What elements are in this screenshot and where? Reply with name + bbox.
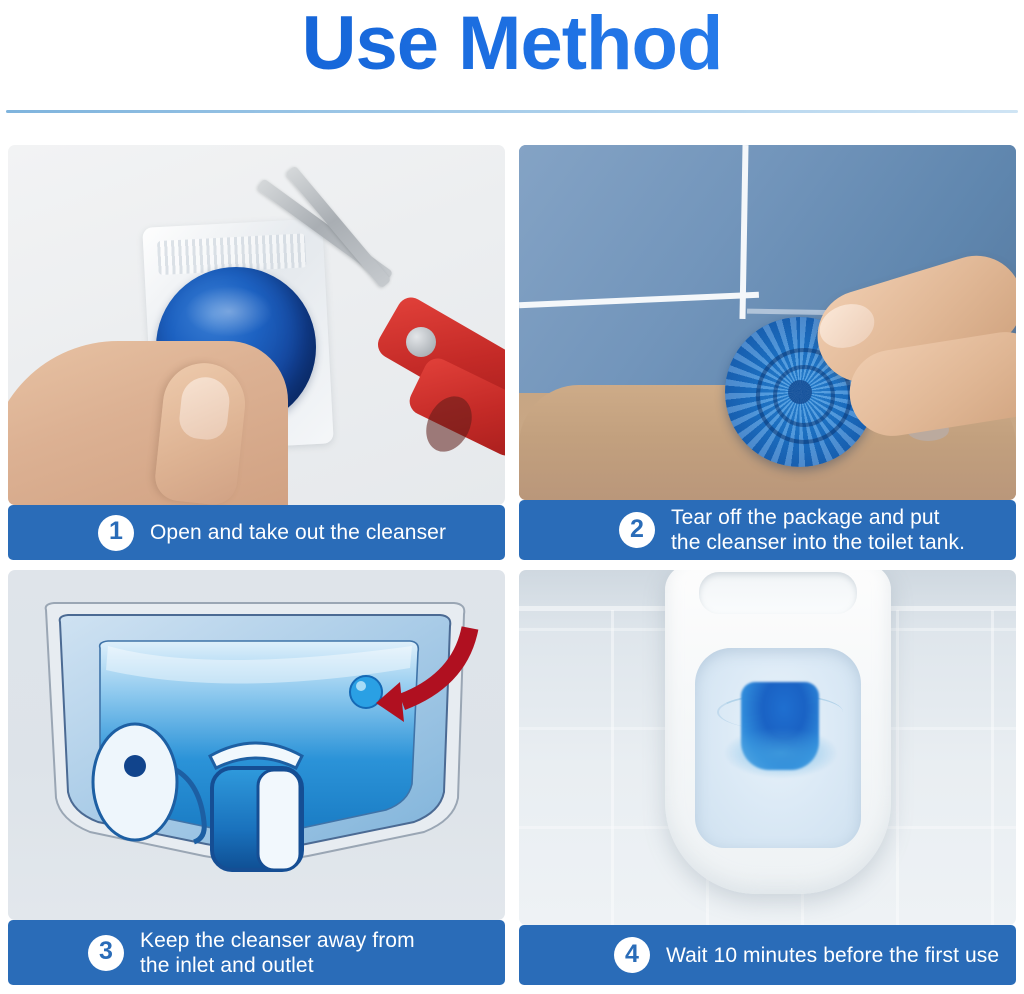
step-number-badge: 4 [614, 937, 650, 973]
step-4-caption-bar: 4 Wait 10 minutes before the first use [519, 925, 1016, 985]
float-valve [93, 724, 177, 840]
disc-center [788, 380, 812, 404]
step-1-caption-text: Open and take out the cleanser [150, 520, 446, 545]
float-valve-port [124, 755, 146, 777]
step-panel-2: 2 Tear off the package and put the clean… [519, 145, 1016, 560]
use-method-infographic: Use Method 1 Open and take [0, 0, 1024, 994]
bowl-water [695, 648, 861, 848]
step-2-caption-text: Tear off the package and put the cleanse… [671, 505, 965, 555]
blue-cleanser-stain [741, 682, 819, 770]
ball-highlight [356, 681, 366, 691]
page-title: Use Method [0, 0, 1024, 90]
step-1-caption-bar: 1 Open and take out the cleanser [8, 505, 505, 560]
step-panel-1: 1 Open and take out the cleanser [8, 145, 505, 560]
step-number-badge: 1 [98, 515, 134, 551]
step-panel-4: 4 Wait 10 minutes before the first use [519, 570, 1016, 985]
step-4-caption-text: Wait 10 minutes before the first use [666, 943, 999, 968]
step-3-diagram: LOCATION INLET AND OUTLET Correct placem… [8, 570, 505, 920]
title-divider [6, 110, 1018, 113]
tank-placement-svg [8, 570, 505, 920]
toilet-bowl [665, 570, 891, 894]
step-4-photo [519, 570, 1016, 925]
steps-grid: 1 Open and take out the cleanser [8, 145, 1016, 985]
step-1-photo [8, 145, 505, 505]
step-panel-3: LOCATION INLET AND OUTLET Correct placem… [8, 570, 505, 985]
step-3-caption-bar: 3 Keep the cleanser away from the inlet … [8, 920, 505, 985]
step-2-caption-bar: 2 Tear off the package and put the clean… [519, 500, 1016, 560]
hand [8, 341, 288, 505]
flush-valve-half [258, 770, 300, 870]
step-2-photo [519, 145, 1016, 500]
step-3-caption-text: Keep the cleanser away from the inlet an… [140, 928, 415, 978]
bowl-rim-notch [699, 572, 857, 614]
scissors-pivot-screw [406, 327, 436, 357]
thumbnail [177, 375, 231, 442]
step-number-badge: 3 [88, 935, 124, 971]
step-number-badge: 2 [619, 512, 655, 548]
header: Use Method [0, 0, 1024, 118]
